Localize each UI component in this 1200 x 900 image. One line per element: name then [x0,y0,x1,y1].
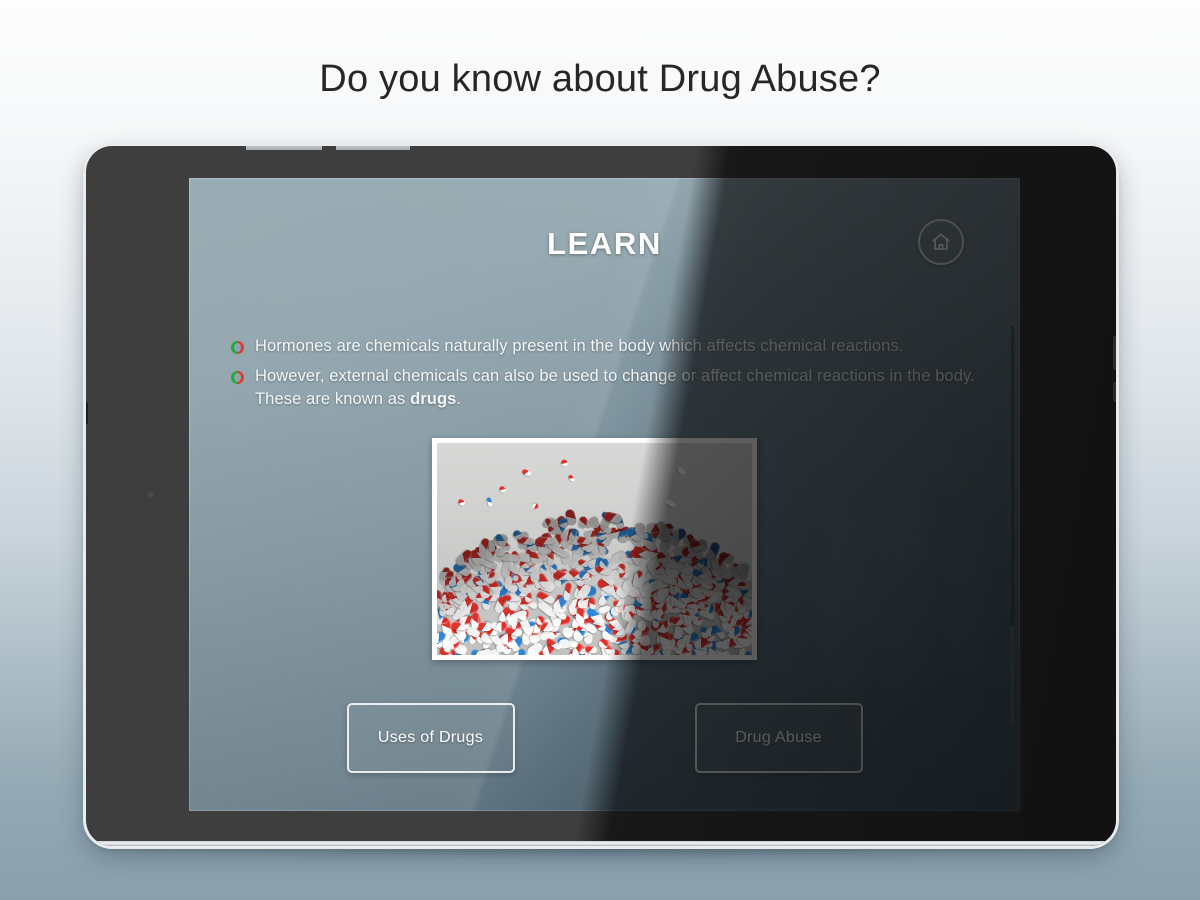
home-button[interactable] [918,219,964,265]
tablet-screen: LEARN Hormones are chemicals natura [189,178,1020,811]
bullet-text-tail: . [456,390,461,408]
uses-of-drugs-button[interactable]: Uses of Drugs [347,703,515,773]
list-item: However, external chemicals can also be … [231,365,975,411]
split-circle-bullet-icon [231,341,244,354]
bullet-text-lead: However, external chemicals can also be … [255,367,975,408]
split-circle-bullet-icon [231,371,244,384]
home-icon [930,231,952,253]
device-bottom-edge [86,841,1116,846]
antenna-band [336,146,410,150]
action-button-row: Uses of Drugs Drug Abuse [189,703,1020,773]
pills-image-frame [432,438,757,660]
bullet-text: Hormones are chemicals naturally present… [255,335,903,358]
left-port [86,402,88,424]
list-item: Hormones are chemicals naturally present… [231,335,975,358]
page-title: Do you know about Drug Abuse? [0,58,1200,101]
tablet-device: LEARN Hormones are chemicals natura [86,146,1116,846]
vertical-scrollbar[interactable] [1011,326,1014,726]
bullet-text: However, external chemicals can also be … [255,365,975,411]
drug-abuse-button[interactable]: Drug Abuse [695,703,863,773]
bullet-text-emphasis: drugs [410,390,456,408]
volume-button[interactable] [1113,382,1116,402]
power-button[interactable] [1113,336,1116,370]
scrollbar-thumb[interactable] [1011,326,1014,626]
app-header: LEARN [189,178,1020,294]
antenna-band [246,146,322,150]
content-bullet-list: Hormones are chemicals naturally present… [231,335,975,417]
pills-image [437,443,752,655]
front-camera [146,490,155,499]
app-title: LEARN [189,226,1020,262]
pill-pile [437,443,752,655]
